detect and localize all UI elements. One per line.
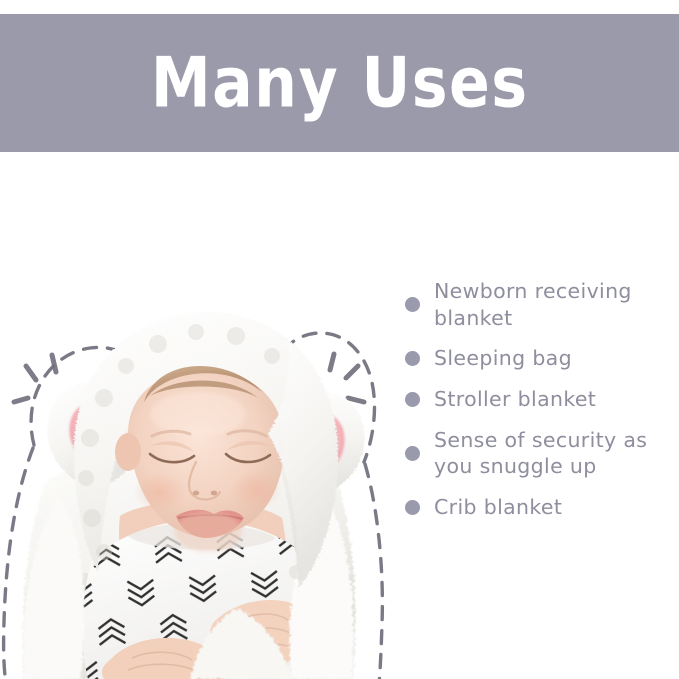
use-label: Newborn receiving blanket bbox=[434, 278, 662, 331]
header-banner: Many Uses bbox=[0, 14, 679, 152]
list-item: Crib blanket bbox=[405, 494, 679, 521]
baby-blanket-illustration bbox=[0, 152, 400, 679]
list-item: Sense of security as you snuggle up bbox=[405, 427, 679, 480]
uses-list: Newborn receiving blanket Sleeping bag S… bbox=[405, 278, 679, 520]
list-item: Stroller blanket bbox=[405, 386, 679, 413]
bullet-icon bbox=[405, 446, 420, 461]
use-label: Crib blanket bbox=[434, 494, 562, 521]
page-title: Many Uses bbox=[151, 48, 529, 117]
use-label: Sense of security as you snuggle up bbox=[434, 427, 662, 480]
content-area: Newborn receiving blanket Sleeping bag S… bbox=[0, 152, 679, 679]
bullet-icon bbox=[405, 351, 420, 366]
list-item: Newborn receiving blanket bbox=[405, 278, 679, 331]
use-label: Stroller blanket bbox=[434, 386, 596, 413]
bullet-icon bbox=[405, 392, 420, 407]
list-item: Sleeping bag bbox=[405, 345, 679, 372]
bullet-icon bbox=[405, 297, 420, 312]
use-label: Sleeping bag bbox=[434, 345, 572, 372]
product-feature-card: Many Uses bbox=[0, 0, 679, 679]
bullet-icon bbox=[405, 500, 420, 515]
product-photo bbox=[0, 152, 400, 679]
